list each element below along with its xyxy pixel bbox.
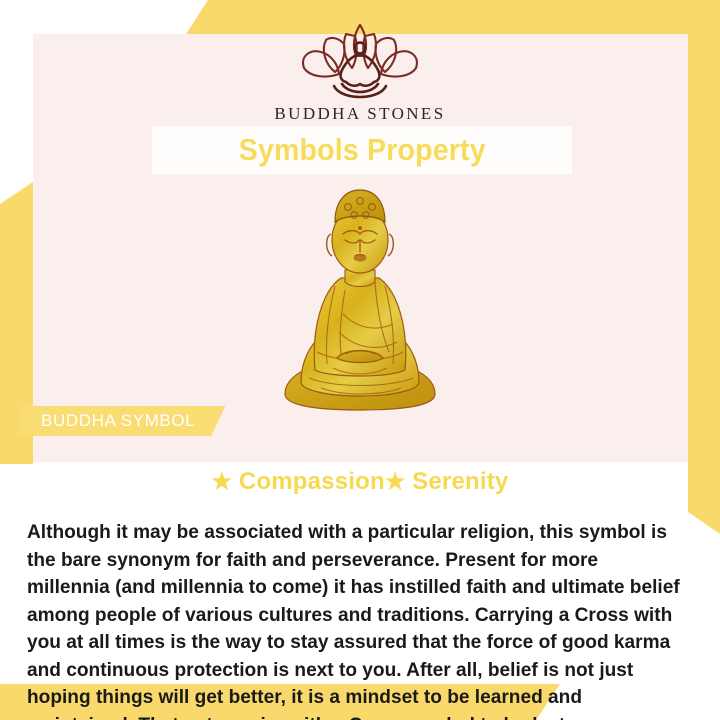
star-icon: ★ [212,468,233,494]
buddha-symbol-ribbon: BUDDHA SYMBOL [19,406,225,436]
page-title: Symbols Property [238,132,485,168]
star-icon-2: ★ [385,468,406,494]
lotus-meditation-icon [294,22,426,100]
brand-wordmark: BUDDHA STONES [274,104,445,124]
title-banner: Symbols Property [152,126,572,174]
brand-logo: BUDDHA STONES [0,22,720,124]
symbols-property-poster: BUDDHA STONES Symbols Property [0,0,720,720]
seated-buddha-statue-icon [271,182,449,414]
attribute-compassion: Compassion [239,468,385,495]
attribute-serenity: Serenity [412,468,508,495]
description-paragraph: Although it may be associated with a par… [27,519,683,720]
ribbon-label: BUDDHA SYMBOL [41,411,195,431]
buddha-illustration [0,182,720,414]
attributes-subtitle: ★ Compassion★ Serenity [0,468,720,496]
